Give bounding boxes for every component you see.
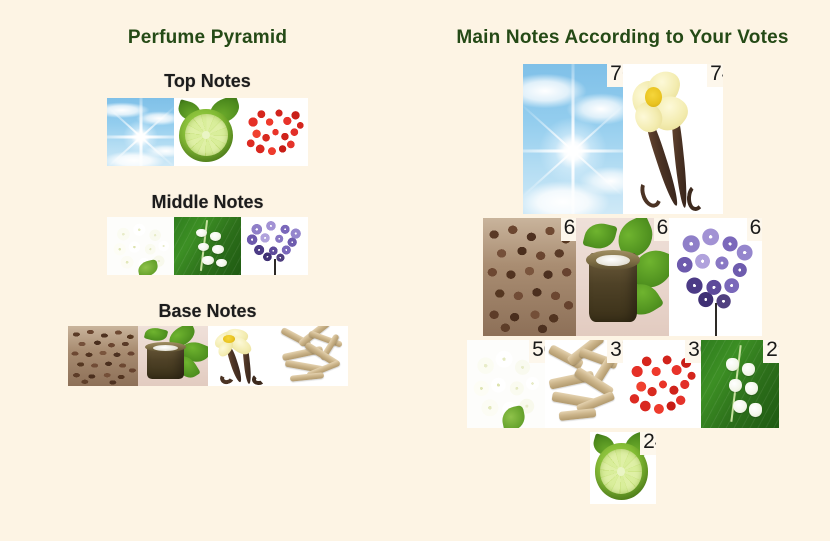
coffee-beans-art bbox=[68, 326, 138, 386]
lily-of-the-valley-art bbox=[174, 217, 241, 275]
vote-tile-pomegranate-note[interactable]: 30 bbox=[623, 340, 701, 428]
note-tile-vanilla-note[interactable] bbox=[208, 326, 278, 386]
note-tile-white-flowers-note[interactable] bbox=[107, 217, 174, 275]
lime-art bbox=[174, 98, 241, 166]
vote-count: 37 bbox=[607, 340, 622, 363]
note-tile-sandalwood-note[interactable] bbox=[278, 326, 348, 386]
note-tile-pomegranate-note[interactable] bbox=[241, 98, 308, 166]
vote-count: 24 bbox=[640, 432, 655, 455]
vote-count: 68 bbox=[561, 218, 576, 241]
perfume-pyramid-column: Perfume Pyramid Top NotesMiddle NotesBas… bbox=[0, 0, 415, 541]
pyramid-note-row bbox=[0, 326, 415, 386]
vote-count: 74 bbox=[707, 64, 722, 87]
votes-rows: 76746862605037302924 bbox=[415, 64, 830, 504]
vote-count: 62 bbox=[654, 218, 669, 241]
notes-label: Middle Notes bbox=[0, 192, 415, 213]
vote-tile-heliotrope-note[interactable]: 60 bbox=[669, 218, 762, 336]
votes-row: 7674 bbox=[415, 64, 830, 214]
pyramid-level-middle-notes: Middle Notes bbox=[0, 192, 415, 275]
note-tile-heliotrope-note[interactable] bbox=[241, 217, 308, 275]
perfume-notes-panel: Perfume Pyramid Top NotesMiddle NotesBas… bbox=[0, 0, 830, 541]
pomegranate-art bbox=[241, 98, 308, 166]
votes-row: 50373029 bbox=[415, 340, 830, 428]
pyramid-level-top-notes: Top Notes bbox=[0, 71, 415, 166]
vote-count: 50 bbox=[529, 340, 544, 363]
note-tile-calone-sun-note[interactable] bbox=[107, 98, 174, 166]
vote-count: 30 bbox=[685, 340, 700, 363]
pyramid-level-base-notes: Base Notes bbox=[0, 301, 415, 386]
votes-title: Main Notes According to Your Votes bbox=[415, 25, 830, 52]
sun-sky-art bbox=[107, 98, 174, 166]
pyramid-levels: Top NotesMiddle NotesBase Notes bbox=[0, 71, 415, 386]
vote-tile-lily-of-the-valley-note[interactable]: 29 bbox=[701, 340, 779, 428]
note-tile-patchouli-note[interactable] bbox=[138, 326, 208, 386]
notes-label: Base Notes bbox=[0, 301, 415, 322]
patchouli-art bbox=[138, 326, 208, 386]
vote-tile-sandalwood-note[interactable]: 37 bbox=[545, 340, 623, 428]
heliotrope-art bbox=[241, 217, 308, 275]
note-tile-coffee-note[interactable] bbox=[68, 326, 138, 386]
vote-tile-vanilla-note[interactable]: 74 bbox=[623, 64, 723, 214]
notes-label: Top Notes bbox=[0, 71, 415, 92]
vote-count: 76 bbox=[607, 64, 622, 87]
vote-tile-calone-sun-note[interactable]: 76 bbox=[523, 64, 623, 214]
note-tile-bergamot-lime-note[interactable] bbox=[174, 98, 241, 166]
vote-tile-white-flowers-note[interactable]: 50 bbox=[467, 340, 545, 428]
pyramid-note-row bbox=[0, 98, 415, 166]
main-notes-votes-column: Main Notes According to Your Votes 76746… bbox=[415, 0, 830, 541]
white-flowers-art bbox=[107, 217, 174, 275]
vote-count: 29 bbox=[763, 340, 778, 363]
vote-tile-patchouli-note[interactable]: 62 bbox=[576, 218, 669, 336]
vote-tile-bergamot-lime-note[interactable]: 24 bbox=[590, 432, 656, 504]
vanilla-art bbox=[208, 326, 278, 386]
pyramid-title: Perfume Pyramid bbox=[0, 27, 415, 49]
vote-count: 60 bbox=[747, 218, 762, 241]
vote-tile-coffee-note[interactable]: 68 bbox=[483, 218, 576, 336]
sandalwood-art bbox=[278, 326, 348, 386]
votes-row: 24 bbox=[415, 432, 830, 504]
votes-row: 686260 bbox=[415, 218, 830, 336]
pyramid-note-row bbox=[0, 217, 415, 275]
note-tile-lily-of-the-valley-note[interactable] bbox=[174, 217, 241, 275]
